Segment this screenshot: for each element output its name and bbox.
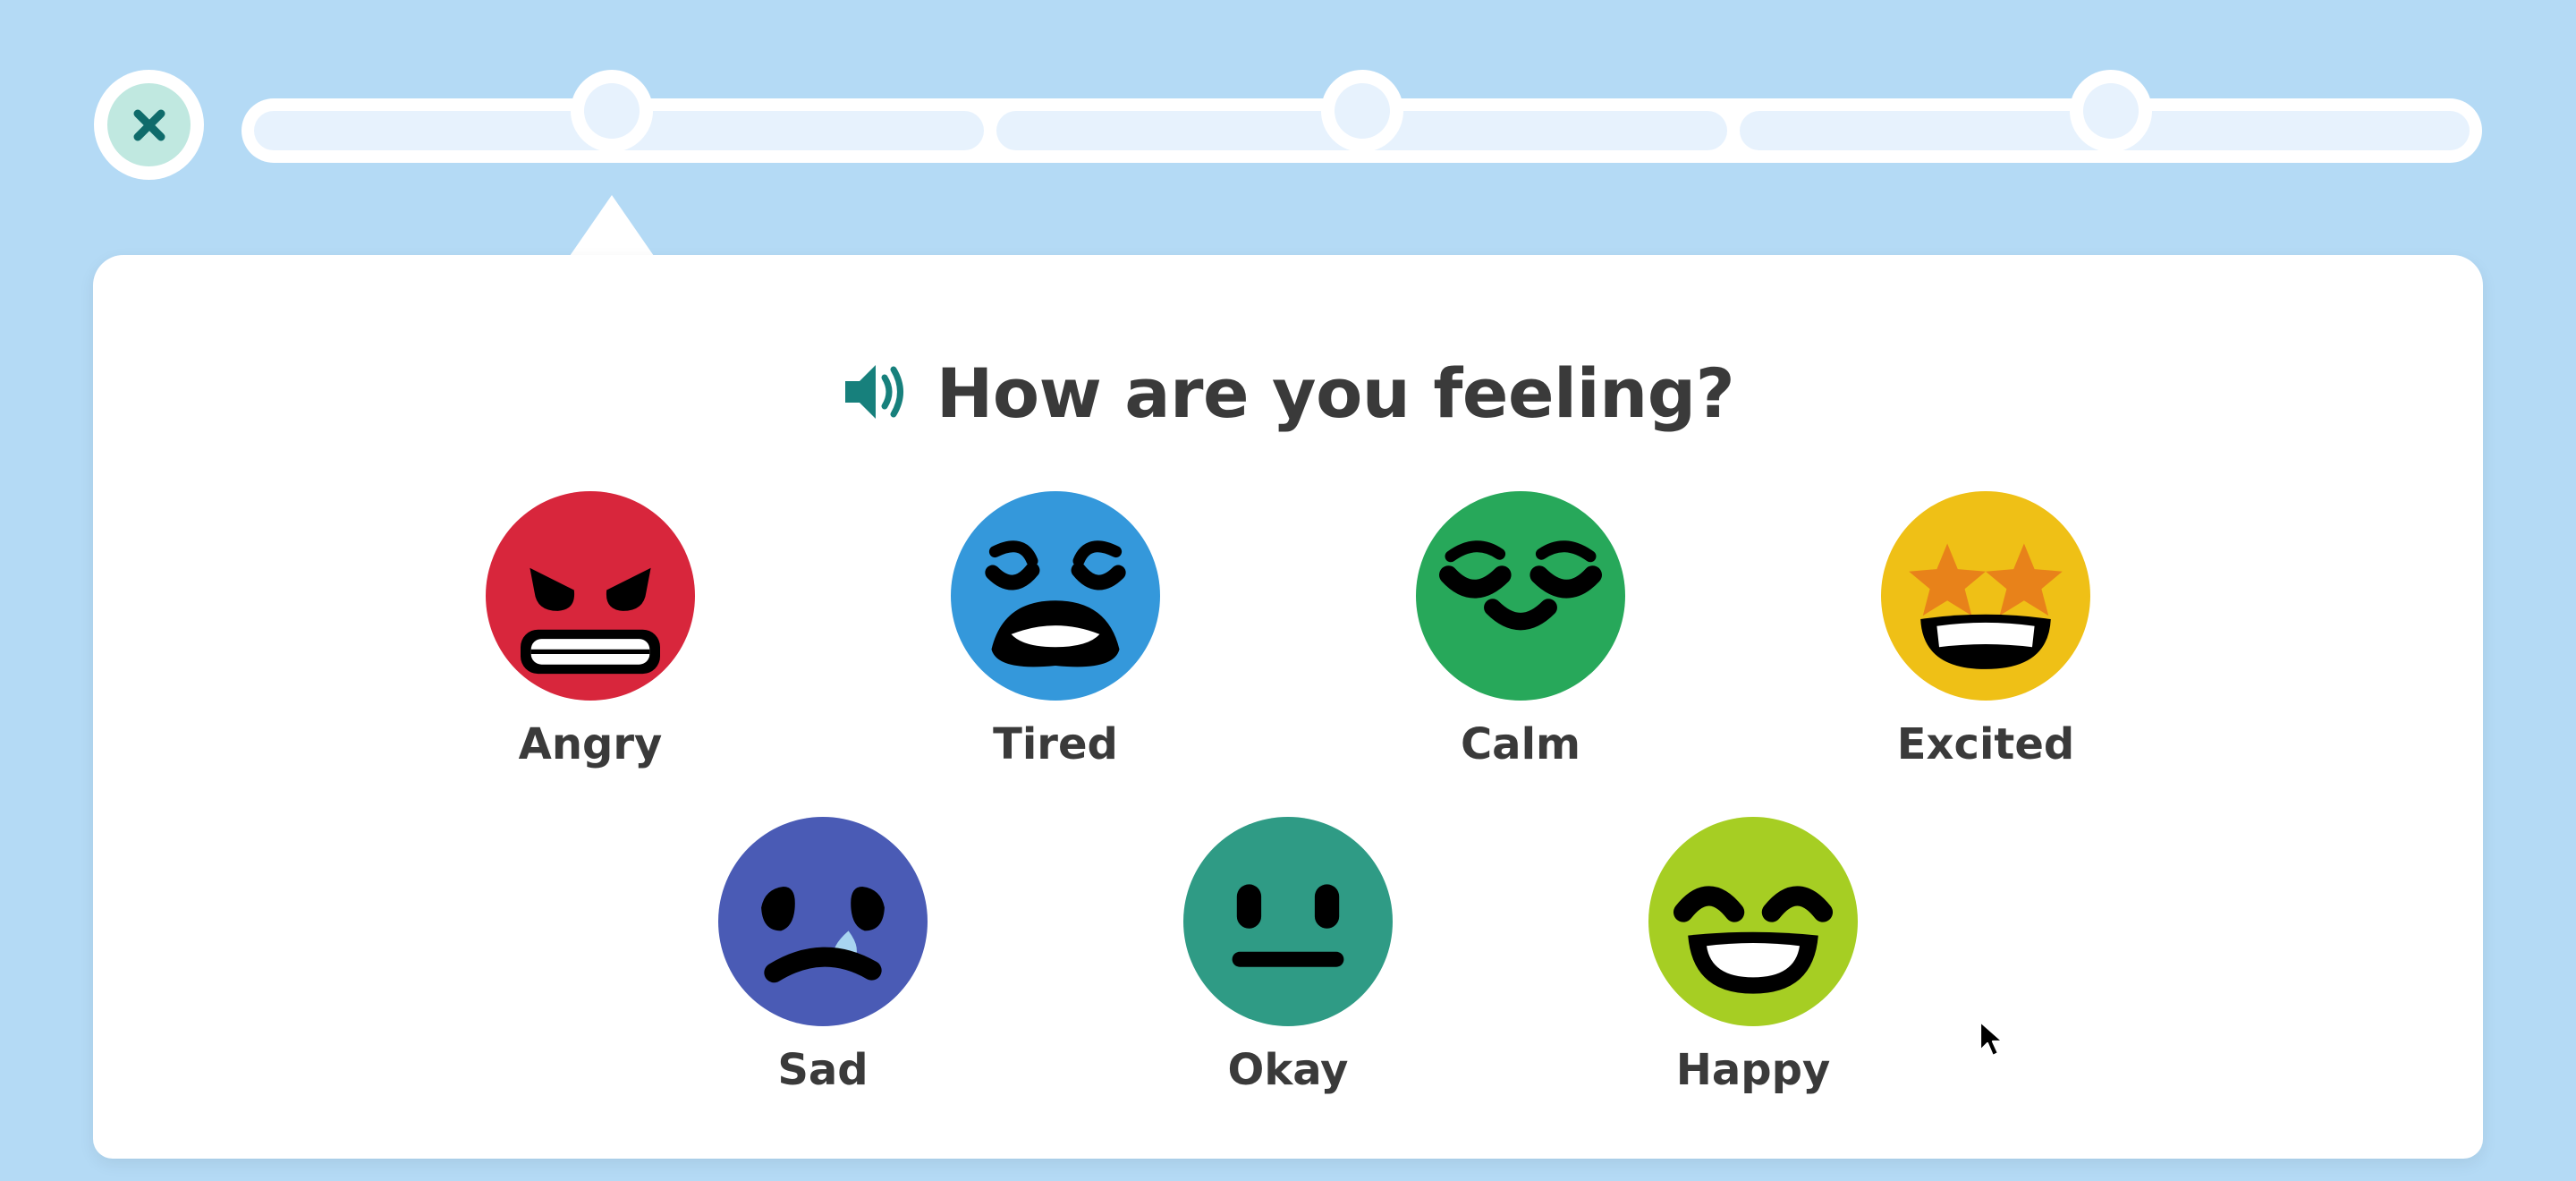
close-x-icon (126, 102, 173, 149)
step-dot-icon (584, 83, 640, 139)
mood-grid: Angry Tired (93, 480, 2483, 1095)
step-dot-icon (1335, 83, 1390, 139)
mood-option-okay[interactable]: Okay (1140, 805, 1436, 1095)
progress-step-dot-2[interactable] (1321, 70, 1403, 152)
mood-label: Sad (777, 1045, 868, 1095)
mood-selection-card: How are you feeling? Angry (93, 255, 2483, 1159)
mood-label: Calm (1461, 719, 1580, 769)
mood-option-sad[interactable]: Sad (675, 805, 970, 1095)
card-title-row: How are you feeling? (93, 353, 2483, 433)
happy-face-icon (1637, 805, 1869, 1038)
mood-option-excited[interactable]: Excited (1838, 480, 2133, 769)
sad-face-icon (707, 805, 939, 1038)
angry-face-icon (474, 480, 707, 712)
excited-face-icon (1869, 480, 2102, 712)
mood-label: Okay (1228, 1045, 1349, 1095)
close-button[interactable] (94, 70, 204, 180)
active-step-pointer (570, 195, 654, 256)
speaker-audio-icon[interactable] (842, 360, 910, 428)
progress-step-dot-3[interactable] (2070, 70, 2152, 152)
mood-option-tired[interactable]: Tired (908, 480, 1203, 769)
mood-row-2: Sad Okay (93, 805, 2483, 1095)
mood-label: Excited (1897, 719, 2075, 769)
mood-label: Angry (519, 719, 663, 769)
calm-face-icon (1404, 480, 1637, 712)
mood-label: Happy (1676, 1045, 1831, 1095)
mood-row-1: Angry Tired (93, 480, 2483, 769)
mood-option-angry[interactable]: Angry (443, 480, 738, 769)
progress-header (0, 0, 2576, 259)
close-button-inner (107, 83, 191, 166)
mood-label: Tired (993, 719, 1118, 769)
page-title: How are you feeling? (936, 353, 1734, 433)
progress-step-dot-1[interactable] (571, 70, 653, 152)
step-dot-icon (2083, 83, 2139, 139)
mood-option-calm[interactable]: Calm (1373, 480, 1668, 769)
mood-option-happy[interactable]: Happy (1606, 805, 1901, 1095)
okay-face-icon (1172, 805, 1404, 1038)
tired-face-icon (939, 480, 1172, 712)
